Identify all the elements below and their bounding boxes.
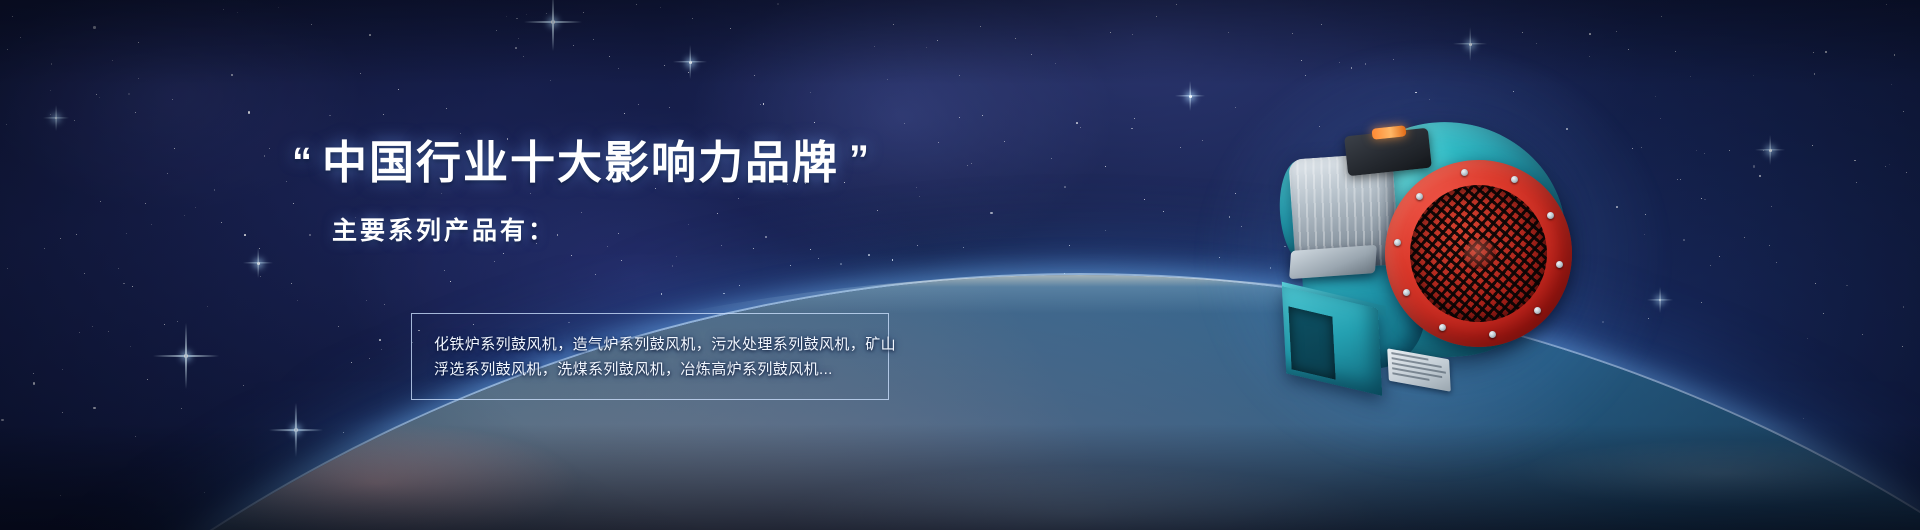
banner-copy: “ 中国行业十大影响力品牌 ” 主要系列产品有：	[292, 140, 1012, 247]
quote-open-mark: “	[292, 142, 312, 182]
product-series-line: 化铁炉系列鼓风机，造气炉系列鼓风机，污水处理系列鼓风机，矿山	[434, 332, 866, 357]
outlet-opening	[1288, 306, 1335, 379]
product-series-box: 化铁炉系列鼓风机，造气炉系列鼓风机，污水处理系列鼓风机，矿山 浮选系列鼓风机，洗…	[411, 313, 889, 400]
product-series-line: 浮选系列鼓风机，洗煤系列鼓风机，冶炼高炉系列鼓风机...	[434, 357, 866, 382]
page-title: “ 中国行业十大影响力品牌 ”	[292, 140, 1012, 185]
hero-banner: “ 中国行业十大影响力品牌 ” 主要系列产品有： 化铁炉系列鼓风机，造气炉系列鼓…	[0, 0, 1920, 530]
centrifugal-blower-image	[1268, 108, 1598, 408]
subheading: 主要系列产品有：	[332, 211, 1012, 247]
headline-text: 中国行业十大影响力品牌	[322, 140, 839, 185]
quote-close-mark: ”	[849, 140, 869, 180]
